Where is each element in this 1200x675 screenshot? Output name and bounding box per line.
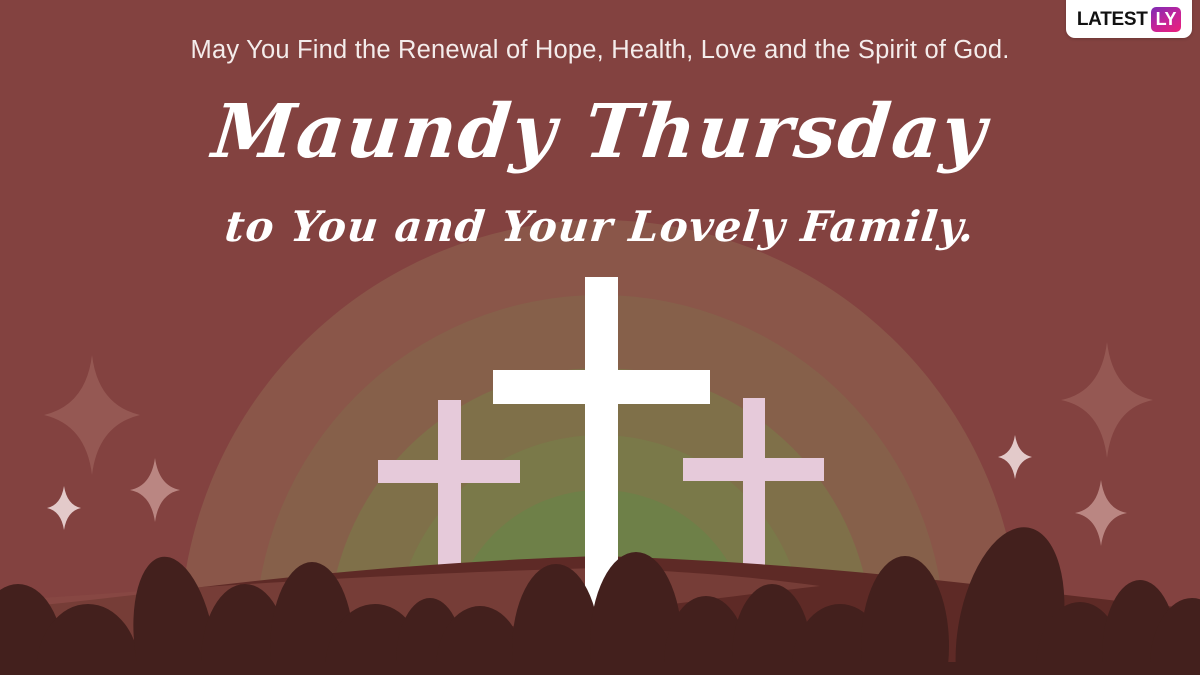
- logo-inner: LATEST LY: [1077, 7, 1181, 32]
- greeting-card: May You Find the Renewal of Hope, Health…: [0, 0, 1200, 675]
- greeting-title: Maundy Thursday: [0, 94, 1200, 172]
- bush-ground: [0, 662, 1200, 675]
- headline-text: May You Find the Renewal of Hope, Health…: [0, 36, 1200, 64]
- greeting-subtitle: to You and Your Lovely Family.: [0, 205, 1200, 249]
- latestly-logo[interactable]: LATEST LY: [1066, 0, 1192, 38]
- logo-latest-text: LATEST: [1077, 10, 1148, 29]
- logo-ly-badge: LY: [1151, 7, 1182, 32]
- cross-left-arm: [378, 460, 520, 483]
- cross-center-arm: [493, 370, 710, 404]
- cross-right-arm: [683, 458, 824, 481]
